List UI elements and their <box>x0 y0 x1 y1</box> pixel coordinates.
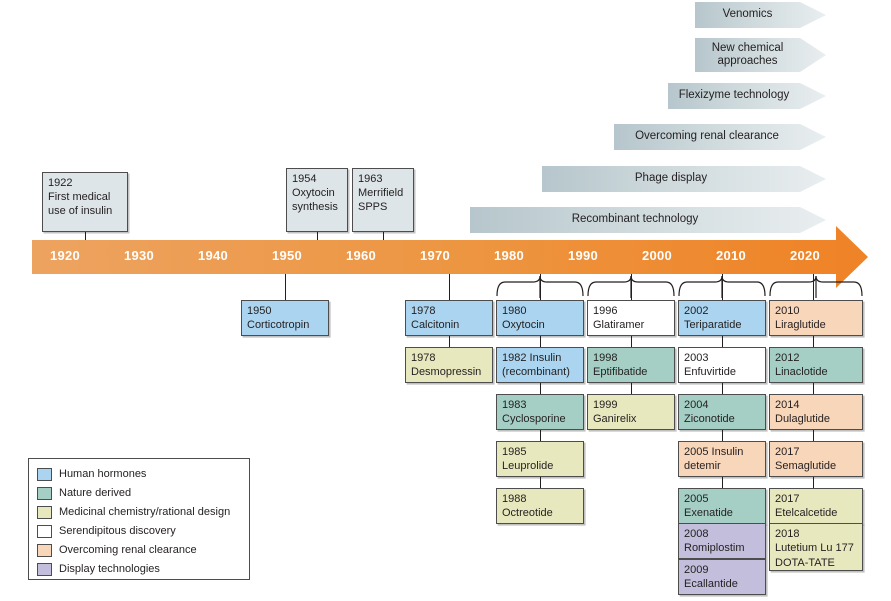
tech-arrow-5: Recombinant technology <box>470 207 826 233</box>
col-2000s-link-0 <box>722 336 723 347</box>
col-1990s-link-1 <box>631 383 632 394</box>
drug-box-col-1978-0: 1978 Calcitonin <box>405 300 493 336</box>
col-2000s-link-1 <box>722 383 723 394</box>
col-1990s-link-0 <box>631 336 632 347</box>
tech-arrow-3: Overcoming renal clearance <box>614 124 826 150</box>
drug-box-col-1990s-2: 1999 Ganirelix <box>587 394 675 430</box>
drug-box-col-2010s-1: 2012 Linaclotide <box>769 347 863 383</box>
legend-swatch-medicinal_chemistry <box>37 506 52 519</box>
col-1978-stem <box>449 274 450 300</box>
col-1980s-link-0 <box>540 336 541 347</box>
col-2010s-link-1 <box>813 383 814 394</box>
legend-swatch-serendipitous <box>37 525 52 538</box>
col-2010s-link-2 <box>813 430 814 441</box>
col-2010s-link-0 <box>813 336 814 347</box>
drug-box-col-2010s-0: 2010 Liraglutide <box>769 300 863 336</box>
legend-label-serendipitous: Serendipitous discovery <box>59 525 176 537</box>
drug-box-col-1980s-3: 1985 Leuprolide <box>496 441 584 477</box>
drug-box-col-1978-1: 1978 Desmopressin <box>405 347 493 383</box>
year-label-1970: 1970 <box>405 248 465 263</box>
year-label-1920: 1920 <box>35 248 95 263</box>
legend-item-human_hormones: Human hormones <box>37 465 243 483</box>
tech-arrow-1: New chemical approaches <box>695 38 826 72</box>
milestone-stem-1922 <box>85 232 86 240</box>
legend-label-nature_derived: Nature derived <box>59 487 131 499</box>
year-label-1990: 1990 <box>553 248 613 263</box>
drug-box-col-1980s-0: 1980 Oxytocin <box>496 300 584 336</box>
year-label-1960: 1960 <box>331 248 391 263</box>
legend-item-display_technologies: Display technologies <box>37 560 243 578</box>
drug-box-col-2010s-2: 2014 Dulaglutide <box>769 394 863 430</box>
drug-box-col-1950-0: 1950 Corticotropin <box>241 300 329 336</box>
legend-rows: Human hormonesNature derivedMedicinal ch… <box>37 465 243 578</box>
legend-label-human_hormones: Human hormones <box>59 468 146 480</box>
legend-swatch-renal_clearance <box>37 544 52 557</box>
milestone-box-1922: 1922 First medical use of insulin <box>42 172 128 232</box>
year-label-2000: 2000 <box>627 248 687 263</box>
brace-connector-3 <box>769 276 863 298</box>
legend-label-renal_clearance: Overcoming renal clearance <box>59 544 197 556</box>
drug-box-col-2010s-3: 2017 Semaglutide <box>769 441 863 477</box>
legend-swatch-nature_derived <box>37 487 52 500</box>
col-2010s-stem <box>813 274 814 300</box>
col-1980s-link-3 <box>540 477 541 488</box>
drug-box-col-2000s-1: 2003 Enfuvirtide <box>678 347 766 383</box>
drug-box-col-1990s-1: 1998 Eptifibatide <box>587 347 675 383</box>
milestone-stem-1963 <box>383 232 384 240</box>
col-1980s-link-1 <box>540 383 541 394</box>
legend-item-nature_derived: Nature derived <box>37 484 243 502</box>
drug-box-col-2000s-4: 2005 Exenatide <box>678 488 766 524</box>
col-1980s-link-2 <box>540 430 541 441</box>
drug-box-col-1980s-2: 1983 Cyclosporine <box>496 394 584 430</box>
drug-box-col-2000s-2: 2004 Ziconotide <box>678 394 766 430</box>
year-label-2020: 2020 <box>775 248 835 263</box>
drug-box-col-2000s-5: 2008 Romiplostim <box>678 523 766 559</box>
col-2000s-link-3 <box>722 477 723 488</box>
legend-swatch-display_technologies <box>37 563 52 576</box>
col-2010s-link-3 <box>813 477 814 488</box>
year-label-1930: 1930 <box>109 248 169 263</box>
milestone-stem-1954 <box>317 232 318 240</box>
year-label-1980: 1980 <box>479 248 539 263</box>
col-1978-link-0 <box>449 336 450 347</box>
year-label-2010: 2010 <box>701 248 761 263</box>
legend-swatch-human_hormones <box>37 468 52 481</box>
drug-box-col-2010s-4: 2017 Etelcalcetide <box>769 488 863 524</box>
col-2000s-stem <box>722 274 723 300</box>
year-label-1950: 1950 <box>257 248 317 263</box>
drug-box-col-2000s-3: 2005 Insulin detemir <box>678 441 766 477</box>
drug-box-col-2000s-6: 2009 Ecallantide <box>678 559 766 595</box>
milestone-box-1963: 1963 Merrifield SPPS <box>352 168 414 232</box>
drug-box-col-1980s-1: 1982 Insulin (recombinant) <box>496 347 584 383</box>
legend-item-renal_clearance: Overcoming renal clearance <box>37 541 243 559</box>
drug-box-col-1980s-4: 1988 Octreotide <box>496 488 584 524</box>
drug-box-col-2010s-5: 2018 Lutetium Lu 177 DOTA-TATE <box>769 523 863 571</box>
col-2000s-link-2 <box>722 430 723 441</box>
milestone-box-1954: 1954 Oxytocin synthesis <box>286 168 348 232</box>
tech-arrow-4: Phage display <box>542 166 826 192</box>
legend: Human hormonesNature derivedMedicinal ch… <box>28 458 250 580</box>
legend-item-medicinal_chemistry: Medicinal chemistry/rational design <box>37 503 243 521</box>
year-label-1940: 1940 <box>183 248 243 263</box>
legend-label-medicinal_chemistry: Medicinal chemistry/rational design <box>59 506 230 518</box>
col-1990s-stem <box>631 274 632 300</box>
legend-item-serendipitous: Serendipitous discovery <box>37 522 243 540</box>
tech-arrow-2: Flexizyme technology <box>668 83 826 109</box>
drug-box-col-2000s-0: 2002 Teriparatide <box>678 300 766 336</box>
legend-label-display_technologies: Display technologies <box>59 563 160 575</box>
col-1950-stem <box>285 274 286 300</box>
drug-box-col-1990s-0: 1996 Glatiramer <box>587 300 675 336</box>
tech-arrow-0: Venomics <box>695 2 826 28</box>
col-1980s-stem <box>540 274 541 300</box>
